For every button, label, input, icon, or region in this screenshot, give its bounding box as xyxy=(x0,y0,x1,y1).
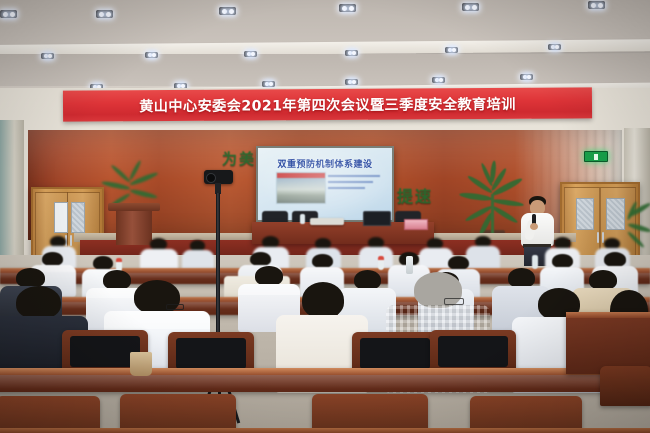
chair-side-right[interactable] xyxy=(600,366,650,406)
eyeglasses-icon xyxy=(444,298,464,305)
ceiling-downlight xyxy=(219,7,236,15)
camera-lens-icon xyxy=(206,173,216,183)
desk-edge-bottom xyxy=(0,428,650,433)
eyeglasses-icon xyxy=(166,304,184,310)
tea-cup xyxy=(130,352,152,376)
ceiling xyxy=(0,0,650,92)
banner-text: 黄山中心安委会2021年第四次会议暨三季度安全教育培训 xyxy=(63,93,592,116)
water-bottle xyxy=(532,255,538,269)
ceiling-downlight xyxy=(0,10,17,18)
ceiling-downlight xyxy=(445,47,458,53)
ceiling-downlight xyxy=(548,44,561,50)
ceiling-downlight xyxy=(432,77,445,83)
name-placard xyxy=(404,219,428,230)
ceiling-downlight xyxy=(345,79,358,85)
ceiling-downlight xyxy=(262,81,275,87)
wall-calligraphy-left: 为美 xyxy=(222,148,256,169)
presenter-hand xyxy=(530,223,538,230)
ceiling-downlight xyxy=(462,3,479,11)
ceiling-downlight xyxy=(145,52,158,58)
ceiling-downlight xyxy=(244,51,257,57)
laptop xyxy=(363,211,391,226)
ceiling-downlight xyxy=(339,4,356,12)
audience-member xyxy=(140,238,178,272)
screen-glare xyxy=(258,148,392,220)
water-bottle xyxy=(300,214,305,224)
chair-row-bottom xyxy=(0,392,650,433)
desk-side-right xyxy=(566,312,650,374)
ceiling-downlight xyxy=(520,74,533,80)
ceiling-downlight xyxy=(96,10,113,18)
ceiling-downlight xyxy=(41,53,54,59)
conference-room-photo: 为美 提速 黄山中心安委会2021年第四次会议暨三季度安全教育培训 双重预防机制… xyxy=(0,0,650,433)
projection-screen: 双重预防机制体系建设 xyxy=(258,148,392,220)
projector xyxy=(310,218,344,225)
ceiling-downlight xyxy=(345,50,358,56)
water-bottle xyxy=(378,256,384,270)
event-banner: 黄山中心安委会2021年第四次会议暨三季度安全教育培训 xyxy=(63,87,592,121)
emergency-exit-icon xyxy=(584,151,608,162)
wall-calligraphy-right: 提速 xyxy=(397,183,433,207)
ceiling-downlight xyxy=(588,1,605,9)
desk-foreground xyxy=(0,368,650,392)
wall-column-left xyxy=(0,120,24,270)
